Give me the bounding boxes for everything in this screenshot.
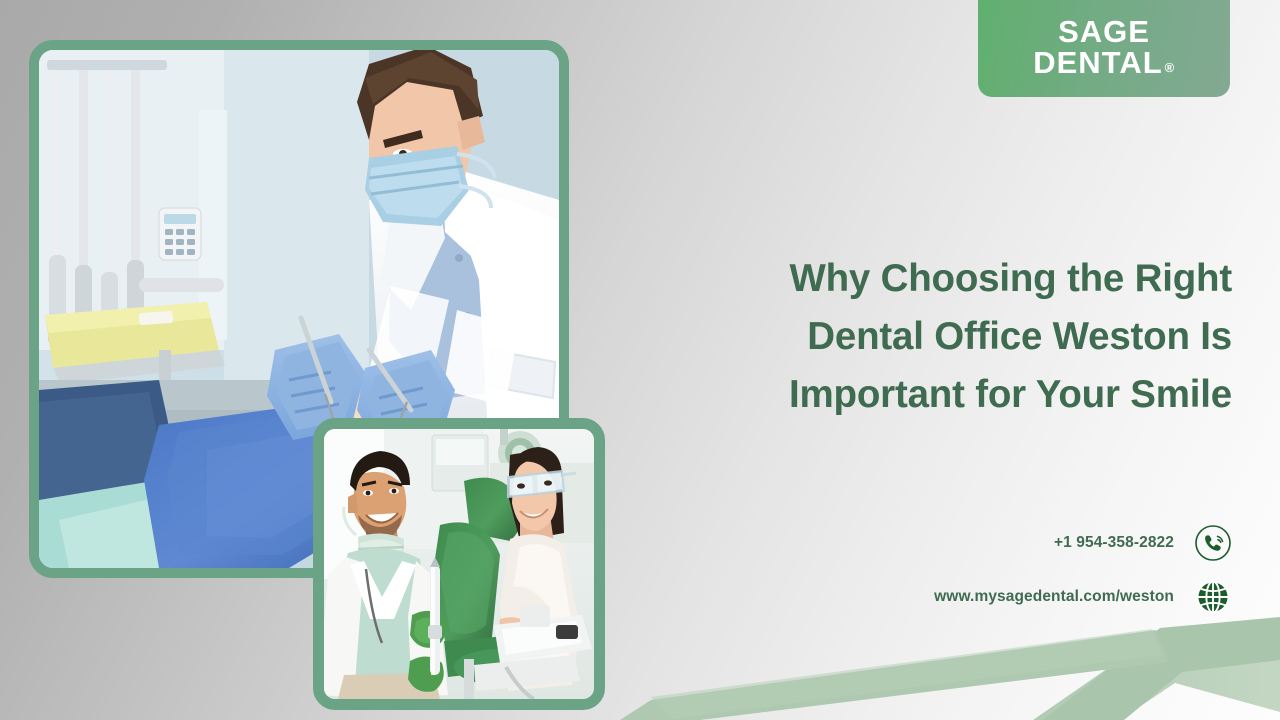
globe-icon[interactable]: [1194, 578, 1232, 616]
dental-handpiece: [428, 557, 442, 675]
phone-circle-icon[interactable]: [1194, 524, 1232, 562]
registered-trademark-icon: ®: [1165, 62, 1175, 75]
sub-photo-inner: [324, 429, 594, 699]
globe-icon-svg: [1194, 578, 1232, 616]
logo-dental-row: DENTAL ®: [1033, 48, 1175, 78]
sub-photo-illustration: [324, 429, 594, 699]
chevron-main: [651, 620, 1280, 720]
dental-unit-keypad: [159, 208, 201, 260]
headline-line-3: Important for Your Smile: [612, 366, 1232, 424]
chevron-outer-sweep: [1043, 617, 1280, 720]
dentist-and-smiling-patient-photo: [313, 418, 605, 710]
page-title: Why Choosing the Right Dental Office Wes…: [612, 250, 1232, 424]
logo-text-sage: SAGE: [1058, 17, 1150, 47]
headline-line-1: Why Choosing the Right: [612, 250, 1232, 308]
website-row[interactable]: www.mysagedental.com/weston: [934, 578, 1232, 616]
sage-dental-logo[interactable]: SAGE DENTAL ®: [978, 0, 1230, 97]
website-url[interactable]: www.mysagedental.com/weston: [934, 588, 1174, 606]
headline-line-2: Dental Office Weston Is: [612, 308, 1232, 366]
chevron-back: [1033, 625, 1280, 720]
contact-block: +1 954-358-2822 www.mysagedental.com/wes…: [934, 524, 1232, 616]
phone-row[interactable]: +1 954-358-2822: [1054, 524, 1232, 562]
phone-number[interactable]: +1 954-358-2822: [1054, 534, 1174, 552]
chevron-long-left: [620, 630, 1168, 720]
phone-circle-icon-svg: [1194, 524, 1232, 562]
chevron-long-left-top: [651, 629, 1162, 719]
logo-text-dental: DENTAL: [1033, 48, 1162, 78]
poster-canvas: SAGE DENTAL ® Why Choosing the Right Den…: [0, 0, 1280, 720]
